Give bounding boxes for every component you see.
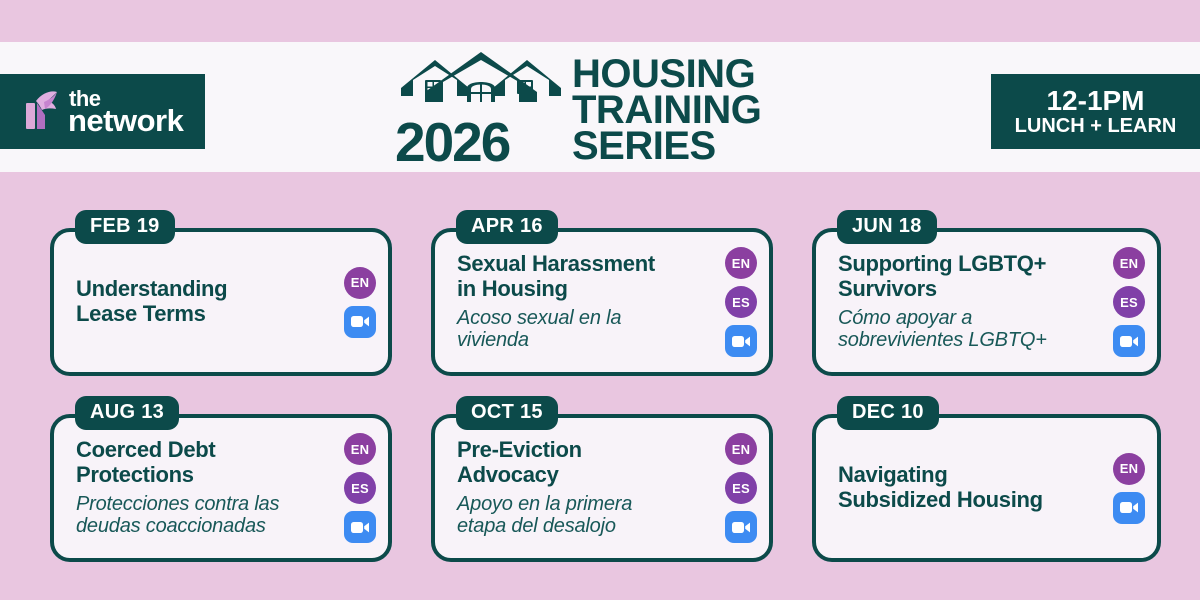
training-card-grid: FEB 19 Understanding Lease Terms EN APR …	[50, 228, 1155, 568]
three-houses-icon	[395, 52, 567, 110]
training-card[interactable]: JUN 18 Supporting LGBTQ+ Survivors Cómo …	[812, 228, 1161, 376]
language-badge-es[interactable]: ES	[1113, 286, 1145, 318]
card-title: Supporting LGBTQ+ Survivors	[838, 252, 1091, 302]
time-range: 12-1PM	[1046, 87, 1144, 116]
language-badge-en[interactable]: EN	[344, 267, 376, 299]
card-title: Pre-Eviction Advocacy	[457, 438, 703, 488]
zoom-icon[interactable]	[344, 306, 376, 338]
card-title: Understanding Lease Terms	[76, 277, 322, 327]
card-title: Sexual Harassment in Housing	[457, 252, 703, 302]
training-card[interactable]: DEC 10 Navigating Subsidized Housing EN	[812, 414, 1161, 562]
language-badge-en[interactable]: EN	[725, 433, 757, 465]
year-label: 2026	[395, 115, 509, 170]
training-card[interactable]: FEB 19 Understanding Lease Terms EN	[50, 228, 392, 376]
hummingbird-icon	[24, 89, 64, 135]
logo-text-network: network	[68, 108, 183, 133]
card-badges: EN	[1113, 418, 1145, 558]
header-title-block: 2026 HOUSING TRAINING SERIES	[395, 50, 815, 166]
language-badge-es[interactable]: ES	[344, 472, 376, 504]
card-badges: EN ES	[344, 418, 376, 558]
zoom-icon[interactable]	[344, 511, 376, 543]
card-text: Navigating Subsidized Housing	[838, 418, 1091, 558]
zoom-icon[interactable]	[1113, 325, 1145, 357]
card-badges: EN ES	[725, 232, 757, 372]
date-badge: FEB 19	[75, 210, 175, 244]
zoom-icon[interactable]	[725, 511, 757, 543]
date-badge: JUN 18	[837, 210, 937, 244]
date-badge: DEC 10	[837, 396, 939, 430]
card-title: Coerced Debt Protections	[76, 438, 322, 488]
zoom-icon[interactable]	[1113, 492, 1145, 524]
date-badge: AUG 13	[75, 396, 179, 430]
language-badge-es[interactable]: ES	[725, 472, 757, 504]
language-badge-es[interactable]: ES	[725, 286, 757, 318]
card-title: Navigating Subsidized Housing	[838, 463, 1091, 513]
poster-canvas: the network	[0, 0, 1200, 600]
card-text: Understanding Lease Terms	[76, 232, 322, 372]
time-subtitle: LUNCH + LEARN	[1015, 116, 1177, 136]
language-badge-en[interactable]: EN	[725, 247, 757, 279]
training-card[interactable]: APR 16 Sexual Harassment in Housing Acos…	[431, 228, 773, 376]
language-badge-en[interactable]: EN	[1113, 453, 1145, 485]
time-badge: 12-1PM LUNCH + LEARN	[991, 74, 1200, 149]
zoom-icon[interactable]	[725, 325, 757, 357]
brand-logo[interactable]: the network	[0, 74, 205, 149]
title-line-series: SERIES	[572, 128, 761, 164]
training-card[interactable]: AUG 13 Coerced Debt Protections Protecci…	[50, 414, 392, 562]
card-text: Supporting LGBTQ+ Survivors Cómo apoyar …	[838, 232, 1091, 372]
year-and-houses: 2026	[395, 50, 570, 166]
title-line-housing: HOUSING	[572, 56, 761, 92]
date-badge: APR 16	[456, 210, 558, 244]
series-title: HOUSING TRAINING SERIES	[572, 56, 761, 164]
card-subtitle-spanish: Acoso sexual en la vivienda	[457, 307, 703, 353]
card-badges: EN ES	[725, 418, 757, 558]
date-badge: OCT 15	[456, 396, 558, 430]
card-badges: EN	[344, 232, 376, 372]
card-badges: EN ES	[1113, 232, 1145, 372]
card-text: Pre-Eviction Advocacy Apoyo en la primer…	[457, 418, 703, 558]
title-line-training: TRAINING	[572, 92, 761, 128]
language-badge-en[interactable]: EN	[1113, 247, 1145, 279]
language-badge-en[interactable]: EN	[344, 433, 376, 465]
card-subtitle-spanish: Protecciones contra las deudas coacciona…	[76, 493, 322, 539]
card-subtitle-spanish: Apoyo en la primera etapa del desalojo	[457, 493, 703, 539]
card-text: Sexual Harassment in Housing Acoso sexua…	[457, 232, 703, 372]
card-subtitle-spanish: Cómo apoyar a sobrevivientes LGBTQ+	[838, 307, 1091, 353]
card-text: Coerced Debt Protections Protecciones co…	[76, 418, 322, 558]
training-card[interactable]: OCT 15 Pre-Eviction Advocacy Apoyo en la…	[431, 414, 773, 562]
